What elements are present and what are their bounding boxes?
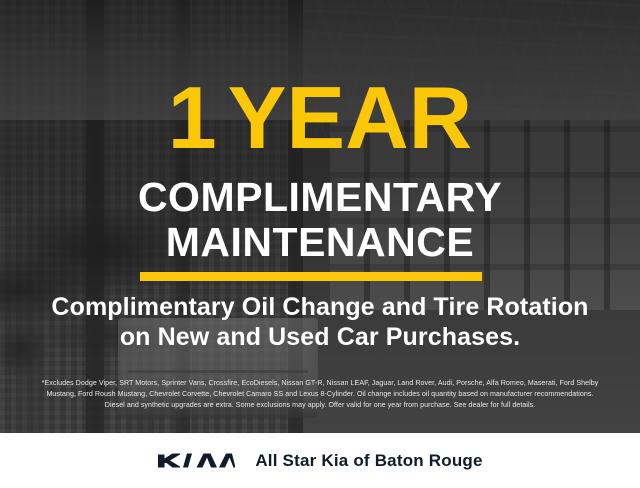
kia-logo — [157, 451, 235, 471]
subheadline: Complimentary Oil Change and Tire Rotati… — [0, 292, 640, 352]
dealer-name: All Star Kia of Baton Rouge — [255, 451, 482, 471]
disclaimer-line-2: Mustang, Ford Roush Mustang, Chevrolet C… — [14, 389, 626, 400]
headline-maintenance: MAINTENANCE — [0, 222, 640, 263]
promo-banner: 1YEAR COMPLIMENTARY MAINTENANCE Complime… — [0, 0, 640, 433]
subheadline-line-1: Complimentary Oil Change and Tire Rotati… — [0, 292, 640, 322]
subheadline-line-2: on New and Used Car Purchases. — [0, 322, 640, 352]
dealer-footer-bar: All Star Kia of Baton Rouge — [0, 433, 640, 488]
disclaimer-text: *Excludes Dodge Viper, SRT Motors, Sprin… — [14, 378, 626, 411]
headline-one-year: 1YEAR — [0, 74, 640, 162]
yellow-divider-rule — [140, 272, 482, 281]
disclaimer-line-1: *Excludes Dodge Viper, SRT Motors, Sprin… — [14, 378, 626, 389]
disclaimer-line-3: Diesel and synthetic upgrades are extra.… — [14, 400, 626, 411]
banner-content: 1YEAR COMPLIMENTARY MAINTENANCE Complime… — [0, 0, 640, 433]
headline-complimentary: COMPLIMENTARY — [0, 177, 640, 218]
headline-year-word: YEAR — [228, 68, 473, 167]
headline-number: 1 — [168, 68, 218, 167]
